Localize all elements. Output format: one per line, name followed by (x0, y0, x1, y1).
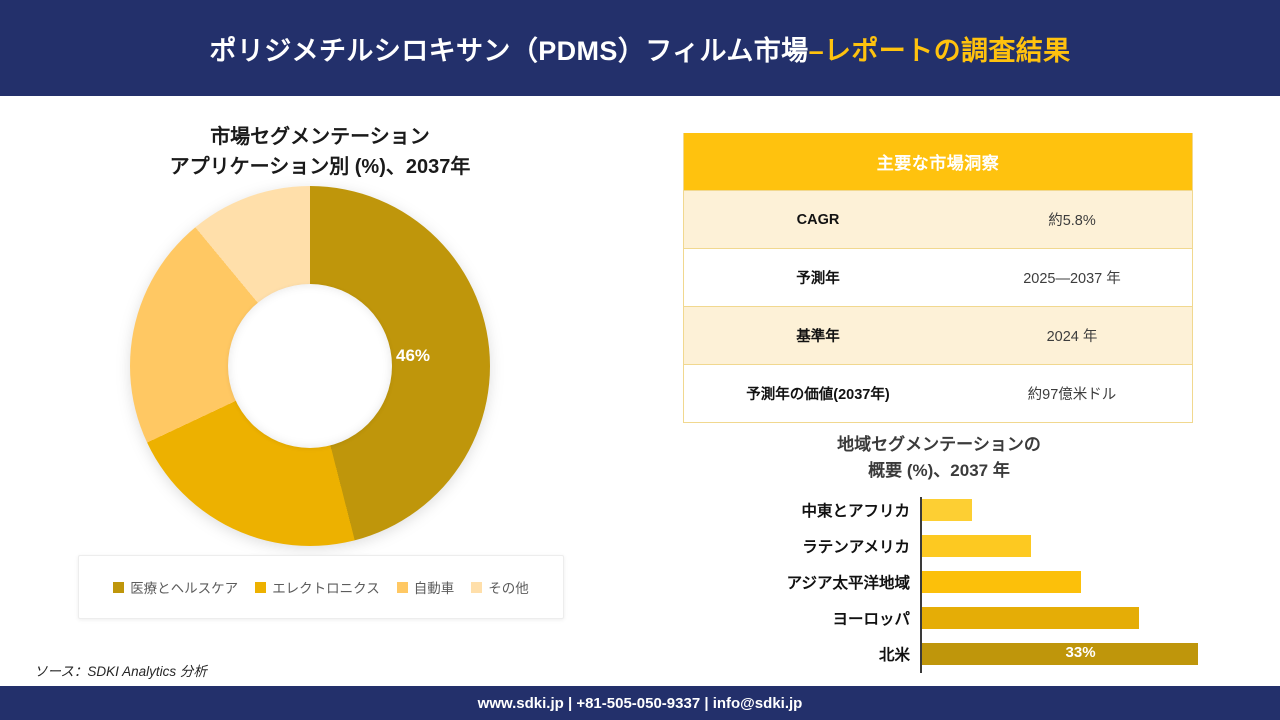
table-body: CAGR約5.8%予測年2025—2037 年基準年2024 年予測年の価値(2… (684, 190, 1192, 422)
legend-item[interactable]: エレクトロニクス (255, 577, 380, 597)
infographic-page: ポリジメチルシロキサン（PDMS）フィルム市場–レポートの調査結果 市場セグメン… (0, 0, 1280, 720)
legend-item[interactable]: 自動車 (397, 577, 455, 597)
page-footer: www.sdki.jp | +81-505-050-9337 | info@sd… (0, 686, 1280, 720)
bar-chart-title-line2: 概要 (%)、2037 年 (683, 458, 1195, 484)
bar-category-label: ヨーロッパ (700, 607, 918, 629)
legend-item-label: 自動車 (414, 577, 455, 597)
donut-legend: 医療とヘルスケアエレクトロニクス自動車その他 (78, 555, 564, 619)
bar-chart-row: 北米33% (700, 641, 1200, 667)
bar-chart-title: 地域セグメンテーションの 概要 (%)、2037 年 (683, 432, 1195, 483)
bar-track (922, 569, 1200, 595)
footer-contact: www.sdki.jp | +81-505-050-9337 | info@sd… (478, 695, 803, 712)
table-header: 主要な市場洞察 (684, 133, 1192, 190)
bar-chart-row: 中東とアフリカ (700, 497, 1200, 523)
market-insights-table: 主要な市場洞察 CAGR約5.8%予測年2025—2037 年基準年2024 年… (683, 133, 1193, 423)
table-row: 予測年2025—2037 年 (684, 248, 1192, 306)
bar-fill (922, 607, 1139, 629)
page-title-main: ポリジメチルシロキサン（PDMS）フィルム市場 (209, 36, 808, 66)
donut-slice-label: 46% (396, 346, 430, 366)
legend-item[interactable]: 医療とヘルスケア (113, 577, 238, 597)
source-note: ソース：SDKI Analytics 分析 (34, 660, 207, 680)
bar-track (922, 533, 1200, 559)
table-row-value: 2024 年 (952, 325, 1192, 346)
table-row-value: 2025—2037 年 (952, 267, 1192, 288)
donut-chart: 46% (130, 186, 490, 546)
bar-chart-title-line1: 地域セグメンテーションの (683, 432, 1195, 458)
legend-swatch-icon (113, 582, 124, 593)
donut-chart-title-line2: アプリケーション別 (%)、2037年 (60, 152, 580, 182)
bar-category-label: ラテンアメリカ (700, 535, 918, 557)
legend-item[interactable]: その他 (471, 577, 529, 597)
legend-item-label: 医療とヘルスケア (130, 577, 238, 597)
page-title: ポリジメチルシロキサン（PDMS）フィルム市場–レポートの調査結果 (209, 29, 1070, 68)
legend-item-label: その他 (488, 577, 529, 597)
bar-category-label: アジア太平洋地域 (700, 571, 918, 593)
bar-category-label: 中東とアフリカ (700, 499, 918, 521)
table-row: 基準年2024 年 (684, 306, 1192, 364)
bar-track: 33% (922, 641, 1200, 667)
page-title-accent: –レポートの調査結果 (809, 36, 1071, 66)
table-row-key: 予測年 (684, 267, 952, 288)
donut-chart-title: 市場セグメンテーション アプリケーション別 (%)、2037年 (60, 122, 580, 183)
donut-hole (228, 284, 392, 448)
table-row-value: 約97億米ドル (952, 383, 1192, 404)
table-row: CAGR約5.8% (684, 190, 1192, 248)
bar-value-label: 33% (1066, 644, 1096, 661)
legend-item-label: エレクトロニクス (272, 577, 380, 597)
bar-fill (922, 499, 972, 521)
bar-chart-row: ヨーロッパ (700, 605, 1200, 631)
bar-track (922, 605, 1200, 631)
table-row-value: 約5.8% (952, 209, 1192, 230)
bar-chart: 中東とアフリカラテンアメリカアジア太平洋地域ヨーロッパ北米33% (700, 497, 1200, 677)
bar-category-label: 北米 (700, 643, 918, 665)
bar-chart-row: ラテンアメリカ (700, 533, 1200, 559)
legend-swatch-icon (471, 582, 482, 593)
page-header: ポリジメチルシロキサン（PDMS）フィルム市場–レポートの調査結果 (0, 0, 1280, 96)
legend-swatch-icon (255, 582, 266, 593)
table-row-key: CAGR (684, 212, 952, 228)
bar-track (922, 497, 1200, 523)
legend-swatch-icon (397, 582, 408, 593)
table-row-key: 基準年 (684, 325, 952, 346)
bar-fill (922, 535, 1031, 557)
table-row-key: 予測年の価値(2037年) (684, 383, 952, 404)
bar-chart-row: アジア太平洋地域 (700, 569, 1200, 595)
donut-chart-title-line1: 市場セグメンテーション (60, 122, 580, 152)
bar-fill (922, 643, 1198, 665)
table-row: 予測年の価値(2037年)約97億米ドル (684, 364, 1192, 422)
bar-fill (922, 571, 1081, 593)
